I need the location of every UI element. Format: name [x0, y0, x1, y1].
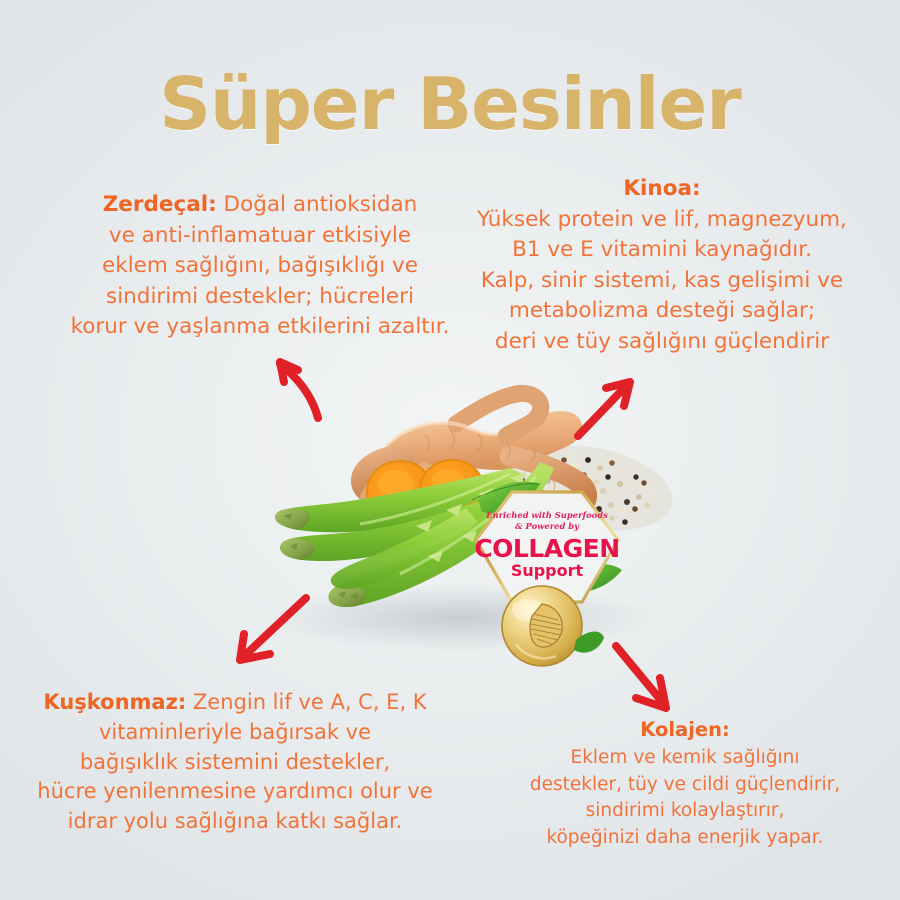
zerdecal-line-1: Zerdeçal: Doğal antioksidan [60, 190, 460, 221]
kinoa-line-1: Yüksek protein ve lif, magnezyum, [462, 205, 862, 236]
badge-sub-label: Support [472, 563, 622, 579]
zerdecal-line-2: ve anti-inflamatuar etkisiyle [60, 221, 460, 252]
zerdecal-line-5: korur ve yaşlanma etkilerini azaltır. [60, 312, 460, 343]
text-block-kuskonmaz: Kuşkonmaz: Zengin lif ve A, C, E, K vita… [20, 688, 450, 837]
kinoa-heading-label: Kinoa: [623, 176, 700, 201]
kolajen-heading-label: Kolajen: [640, 718, 730, 741]
text-block-zerdecal: Zerdeçal: Doğal antioksidan ve anti-infl… [60, 190, 460, 343]
badge-text-group: Enriched with Superfoods & Powered by CO… [472, 510, 622, 579]
zerdecal-body-1: Doğal antioksidan [224, 192, 418, 217]
kuskonmaz-line-1: Kuşkonmaz: Zengin lif ve A, C, E, K [20, 688, 450, 718]
kolajen-line-4: köpeğinizi daha enerjik yapar. [510, 825, 860, 852]
kuskonmaz-heading: Kuşkonmaz: [43, 690, 186, 714]
page-title: Süper Besinler [0, 62, 900, 146]
arrow-to-zerdecal [262, 352, 332, 427]
kinoa-heading: Kinoa: [462, 174, 862, 205]
zerdecal-line-3: eklem sağlığını, bağışıklığı ve [60, 251, 460, 282]
arrow-to-kolajen [602, 642, 688, 723]
badge-main-label: COLLAGEN [472, 536, 622, 561]
gold-coin-medallion [494, 584, 604, 668]
kuskonmaz-line-5: idrar yolu sağlığına katkı sağlar. [20, 807, 450, 837]
kinoa-line-2: B1 ve E vitamini kaynağıdır. [462, 235, 862, 266]
kinoa-line-4: metabolizma desteği sağlar; [462, 296, 862, 327]
text-block-kolajen: Kolajen: Eklem ve kemik sağlığını destek… [510, 716, 860, 852]
kuskonmaz-line-2: vitaminleriyle bağırsak ve [20, 718, 450, 748]
kuskonmaz-line-4: hücre yenilenmesine yardımcı olur ve [20, 777, 450, 807]
superfoods-poster: Süper Besinler [0, 0, 900, 900]
kolajen-line-1: Eklem ve kemik sağlığını [510, 745, 860, 772]
badge-tagline-line-1: Enriched with Superfoods [472, 510, 622, 521]
kolajen-line-3: sindirimi kolaylaştırır, [510, 798, 860, 825]
text-block-kinoa: Kinoa: Yüksek protein ve lif, magnezyum,… [462, 174, 862, 357]
kinoa-line-3: Kalp, sinir sistemi, kas gelişimi ve [462, 266, 862, 297]
collagen-badge: Enriched with Superfoods & Powered by CO… [472, 488, 622, 668]
kolajen-line-2: destekler, tüy ve cildi güçlendirir, [510, 772, 860, 799]
kolajen-heading: Kolajen: [510, 716, 860, 745]
arrow-to-kuskonmaz [228, 592, 314, 673]
kinoa-line-5: deri ve tüy sağlığını güçlendirir [462, 327, 862, 358]
zerdecal-line-4: sindirimi destekler; hücreleri [60, 282, 460, 313]
badge-tagline-line-2: & Powered by [472, 521, 622, 532]
kuskonmaz-line-3: bağışıklık sistemini destekler, [20, 748, 450, 778]
arrow-to-kinoa [572, 372, 644, 447]
kuskonmaz-body-1: Zengin lif ve A, C, E, K [193, 690, 427, 714]
zerdecal-heading: Zerdeçal: [103, 192, 217, 217]
